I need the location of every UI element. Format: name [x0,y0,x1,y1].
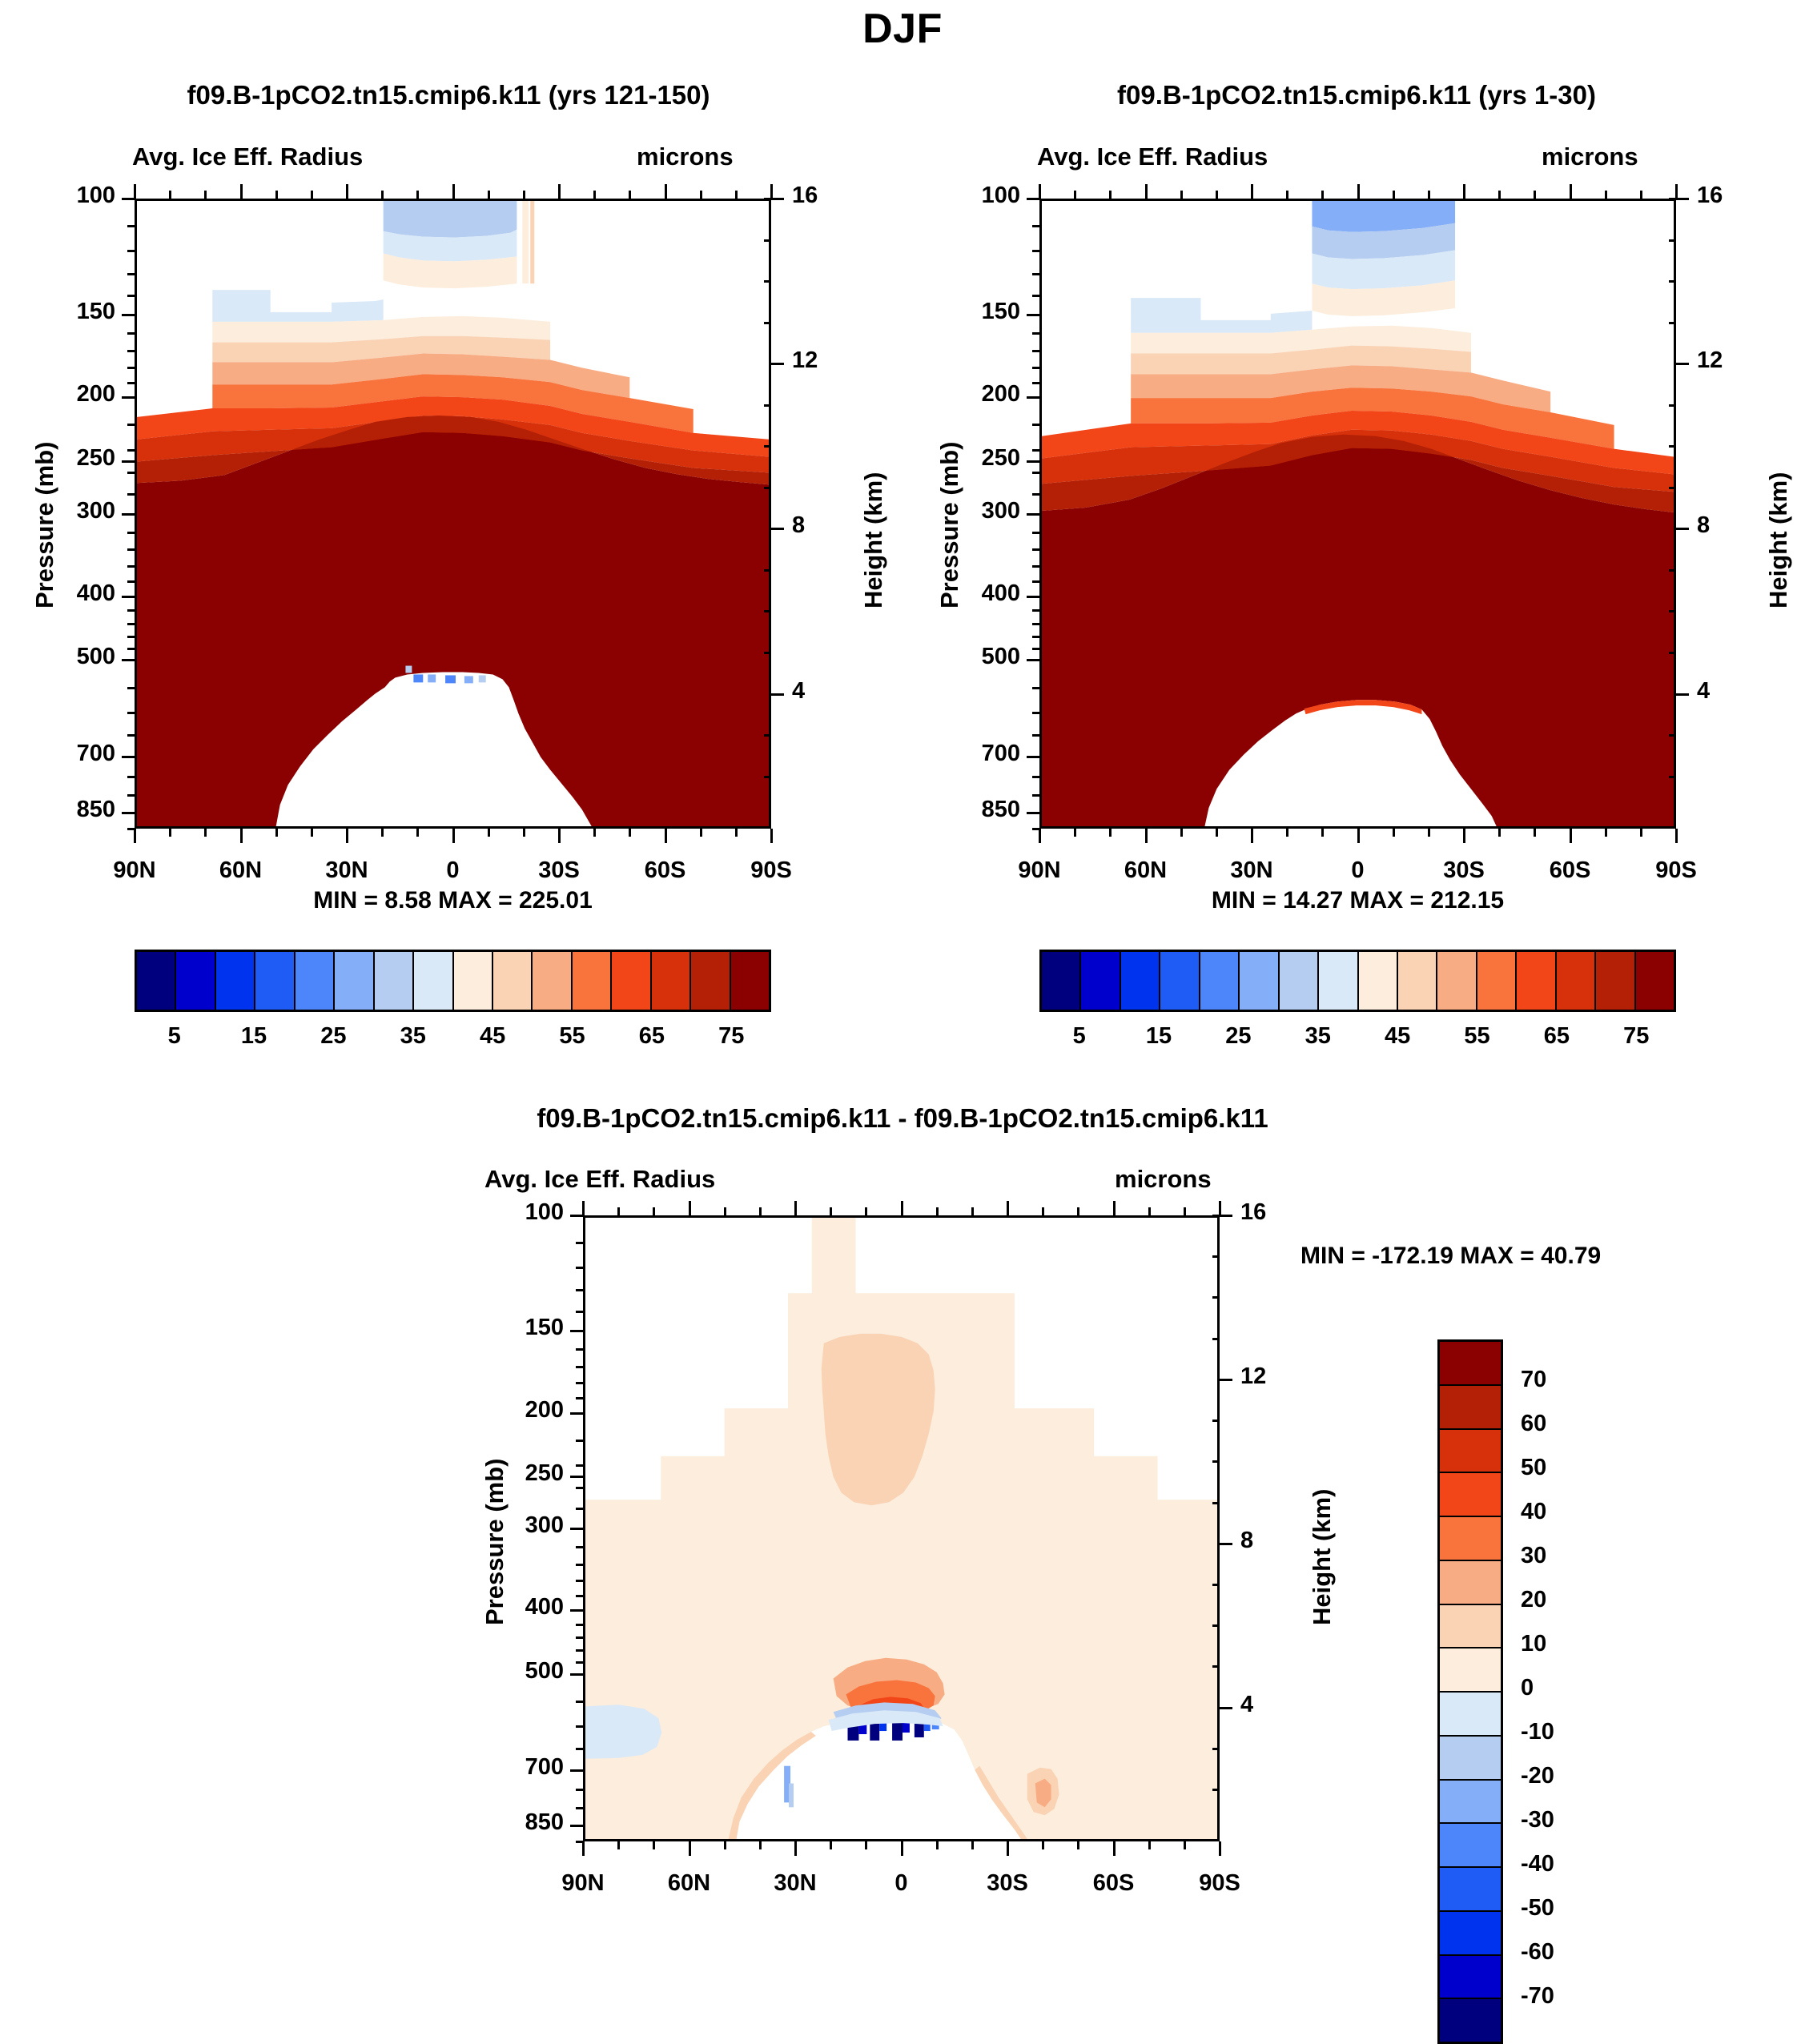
tick-mark-minor [576,1267,583,1269]
tick-mark [570,1412,583,1415]
y-tick-label: 500 [943,644,1020,670]
plot-area-right [1039,199,1676,829]
tick-mark-minor [700,191,702,199]
tick-mark [122,198,135,200]
y-tick-label: 100 [943,183,1020,209]
tick-mark-minor [275,829,278,837]
tick-mark-minor [1212,1624,1220,1627]
tick-mark-minor [1032,687,1039,689]
tick-mark [582,1841,585,1856]
tick-mark-minor [576,1289,583,1291]
tick-mark [558,184,561,199]
tick-mark-minor [127,367,135,369]
colorbar-cell[interactable] [1440,1430,1501,1474]
tick-mark [1027,756,1039,758]
tick-mark [1039,184,1041,199]
x-tick-label: 30N [291,857,403,884]
tick-mark-minor [1212,1255,1220,1258]
tick-mark-minor [1286,191,1288,199]
tick-mark-minor [1212,1420,1220,1422]
tick-mark-minor [617,1207,620,1215]
tick-mark-minor [1032,532,1039,534]
y-tick-label: 100 [38,183,115,209]
tick-mark-minor [416,191,419,199]
tick-mark-minor [724,1207,726,1215]
y-tick-label: 400 [943,580,1020,607]
tick-mark-minor [1393,829,1395,837]
tick-mark [1027,513,1039,516]
x-tick-label: 30S [951,1870,1063,1897]
tick-mark [122,396,135,399]
colorbar-cell[interactable] [137,952,176,1010]
tick-mark-minor [127,609,135,612]
y-tick-label: 300 [38,498,115,524]
tick-mark-minor [1669,404,1676,407]
tick-mark [134,829,136,843]
y2-tick-label: 16 [792,183,848,209]
tick-mark [570,1609,583,1612]
tick-mark-minor [576,1595,583,1597]
colorbar-tick-label: 20 [1521,1587,1625,1613]
tick-mark [346,829,348,843]
colorbar-tick-label: -20 [1521,1763,1625,1789]
colorbar-cell[interactable] [1121,952,1160,1010]
tick-mark [240,184,243,199]
tick-mark-minor [1212,1502,1220,1504]
minmax-diff: MIN = -172.19 MAX = 40.79 [1300,1243,1601,1270]
tick-mark [1570,829,1572,843]
tick-mark-minor [1640,829,1642,837]
tick-mark-minor [764,322,771,324]
tick-mark-minor [381,829,384,837]
colorbar-cell[interactable] [1240,952,1279,1010]
x-tick-label: 30N [739,1870,851,1897]
tick-mark [794,1841,797,1856]
tick-mark [346,184,348,199]
tick-mark [1027,812,1039,814]
colorbar-cell[interactable] [1596,952,1635,1010]
colorbar-cell[interactable] [255,952,295,1010]
x-tick-label: 0 [846,1870,958,1897]
tick-mark [1463,829,1465,843]
tick-mark [1145,829,1148,843]
colorbar-tick-label: 75 [683,1023,779,1050]
tick-mark-minor [1640,191,1642,199]
colorbar-tick-label: 0 [1521,1675,1625,1701]
tick-mark-minor [1428,829,1430,837]
x-tick-label: 90S [715,857,827,884]
colorbar-cell[interactable] [533,952,572,1010]
tick-mark-minor [127,712,135,714]
tick-mark-minor [936,1207,939,1215]
tick-mark-minor [204,191,207,199]
tick-mark-minor [1393,191,1395,199]
tick-mark-minor [576,1546,583,1548]
colorbar-cell[interactable] [691,952,730,1010]
tick-mark [689,1841,691,1856]
tick-mark [1357,829,1360,843]
tick-mark-minor [1321,191,1324,199]
colorbar-cell[interactable] [1440,1561,1501,1605]
colorbar-cell[interactable] [1280,952,1319,1010]
tick-mark-minor [1032,382,1039,384]
colorbar-cell[interactable] [1440,1693,1501,1737]
y-tick-label: 700 [38,741,115,767]
tick-mark [771,198,784,200]
tick-mark-minor [1534,191,1536,199]
tick-mark-minor [700,829,702,837]
tick-mark [1675,829,1678,843]
colorbar-cell[interactable] [1440,1868,1501,1912]
tick-mark-minor [1148,1207,1151,1215]
panel-units-diff: microns [1115,1165,1212,1194]
y2-tick-label: 8 [792,512,848,539]
tick-mark-minor [759,1841,762,1849]
tick-mark [570,1476,583,1478]
colorbar-cell[interactable] [375,952,414,1010]
colorbar-right[interactable] [1039,950,1676,1012]
tick-mark [582,1201,585,1215]
colorbar-cell[interactable] [1440,1605,1501,1649]
colorbar-cell[interactable] [1200,952,1240,1010]
tick-mark [1007,1841,1009,1856]
tick-mark-minor [764,776,771,778]
tick-mark-minor [488,191,490,199]
tick-mark-minor [830,1841,832,1849]
tick-mark-minor [576,1508,583,1510]
y-tick-label: 250 [38,445,115,472]
tick-mark [122,596,135,598]
tick-mark-minor [127,472,135,474]
tick-mark [134,184,136,199]
tick-mark-minor [1669,322,1676,324]
tick-mark [122,314,135,316]
x-tick-label: 30S [503,857,615,884]
tick-mark-minor [1032,472,1039,474]
tick-mark-minor [127,580,135,583]
x-tick-label: 60N [1090,857,1202,884]
tick-mark [771,528,784,530]
tick-mark [240,829,243,843]
tick-mark [122,812,135,814]
y2-tick-label: 16 [1697,183,1753,209]
tick-mark [771,693,784,696]
tick-mark-minor [576,1366,583,1368]
colorbar-cell[interactable] [335,952,374,1010]
tick-mark-minor [1032,332,1039,335]
tick-mark [1027,396,1039,399]
panel-title-left: f09.B-1pCO2.tn15.cmip6.k11 (yrs 121-150) [0,80,897,110]
x-tick-label: 90S [1620,857,1732,884]
colorbar-cell[interactable] [1440,1648,1501,1693]
y2-tick-label: 4 [1697,678,1753,705]
colorbar-cell[interactable] [1437,952,1477,1010]
tick-mark [689,1201,691,1215]
colorbar-cell[interactable] [493,952,533,1010]
colorbar-cell[interactable] [1359,952,1398,1010]
y2-axis-title-left: Height (km) [859,472,888,609]
tick-mark-minor [1042,1207,1044,1215]
tick-mark-minor [1032,734,1039,737]
tick-mark-minor [1428,191,1430,199]
tick-mark-minor [764,487,771,489]
x-tick-label: 60S [609,857,722,884]
colorbar-cell[interactable] [1160,952,1200,1010]
colorbar-tick-label: -30 [1521,1807,1625,1833]
y-tick-label: 850 [943,797,1020,823]
tick-mark-minor [1321,829,1324,837]
tick-mark [452,829,455,843]
colorbar-cell[interactable] [573,952,612,1010]
tick-mark-minor [1286,829,1288,837]
tick-mark-minor [1669,280,1676,283]
colorbar-cell[interactable] [1440,1342,1501,1386]
colorbar-cell[interactable] [454,952,493,1010]
tick-mark [1219,1201,1221,1215]
tick-mark-minor [127,532,135,534]
tick-mark-minor [1032,776,1039,778]
tick-mark-minor [127,794,135,797]
x-tick-label: 90N [78,857,191,884]
tick-mark [1007,1201,1009,1215]
colorbar-cell[interactable] [414,952,453,1010]
panel-field-label-left: Avg. Ice Eff. Radius [132,143,363,171]
y-tick-label: 200 [943,381,1020,408]
tick-mark-minor [865,1841,867,1849]
tick-mark-minor [523,191,525,199]
tick-mark-minor [1212,1296,1220,1299]
x-tick-label: 30N [1196,857,1308,884]
panel-field-label-right: Avg. Ice Eff. Radius [1037,143,1268,171]
colorbar-cell[interactable] [652,952,691,1010]
colorbar-cell[interactable] [1042,952,1081,1010]
tick-mark-minor [311,829,313,837]
tick-mark-minor [759,1207,762,1215]
tick-mark [1357,184,1360,199]
tick-mark [570,1673,583,1676]
tick-mark [794,1201,797,1215]
tick-mark-minor [1032,580,1039,583]
y-tick-label: 150 [487,1315,564,1341]
tick-mark [1145,184,1148,199]
tick-mark-minor [735,191,738,199]
tick-mark [901,1201,903,1215]
tick-mark-minor [416,829,419,837]
tick-mark-minor [1669,652,1676,654]
colorbar-cell[interactable] [1440,1517,1501,1561]
minmax-left: MIN = 8.58 MAX = 225.01 [135,887,771,914]
tick-mark-minor [593,829,596,837]
y-tick-label: 700 [943,741,1020,767]
colorbar-cell[interactable] [1477,952,1517,1010]
tick-mark [1675,184,1678,199]
colorbar-diff[interactable] [1437,1339,1503,2044]
tick-mark-minor [1042,1841,1044,1849]
tick-mark-minor [971,1841,974,1849]
tick-mark-minor [127,776,135,778]
colorbar-cell[interactable] [731,952,769,1010]
colorbar-tick-label: -60 [1521,1939,1625,1966]
tick-mark-minor [1669,487,1676,489]
tick-mark-minor [576,1242,583,1244]
x-tick-label: 90N [983,857,1095,884]
tick-mark-minor [127,734,135,737]
tick-mark-minor [1669,776,1676,778]
tick-mark [1220,1379,1232,1381]
tick-mark-minor [576,1748,583,1750]
y-tick-label: 250 [943,445,1020,472]
panel-title-diff: f09.B-1pCO2.tn15.cmip6.k11 - f09.B-1pCO2… [0,1103,1805,1134]
y-tick-label: 500 [38,644,115,670]
tick-mark-minor [1032,609,1039,612]
tick-mark [1113,1201,1116,1215]
tick-mark-minor [127,449,135,452]
tick-mark-minor [576,1701,583,1703]
panel-field-label-diff: Avg. Ice Eff. Radius [484,1165,715,1194]
tick-mark-minor [127,548,135,551]
minmax-right: MIN = 14.27 MAX = 212.15 [1039,887,1676,914]
y-tick-label: 850 [38,797,115,823]
tick-mark-minor [127,623,135,625]
colorbar-cell[interactable] [1440,1824,1501,1868]
tick-mark-minor [1032,648,1039,650]
tick-mark-minor [127,295,135,297]
tick-mark-minor [127,273,135,275]
colorbar-cell[interactable] [1440,1386,1501,1430]
tick-mark-minor [735,829,738,837]
tick-mark-minor [1605,829,1607,837]
tick-mark-minor [1109,829,1112,837]
colorbar-cell[interactable] [1081,952,1120,1010]
tick-mark [1463,184,1465,199]
tick-mark-minor [127,424,135,426]
tick-mark [771,363,784,365]
tick-mark-minor [1180,191,1183,199]
tick-mark-minor [127,350,135,352]
tick-mark-minor [1184,1841,1186,1849]
tick-mark-minor [576,1311,583,1313]
tick-mark-minor [1032,548,1039,551]
tick-mark-minor [576,1725,583,1728]
tick-mark-minor [311,191,313,199]
tick-mark-minor [1032,623,1039,625]
colorbar-cell[interactable] [1440,1999,1501,2042]
tick-mark-minor [1032,794,1039,797]
tick-mark [1027,198,1039,200]
tick-mark-minor [169,191,171,199]
tick-mark-minor [1032,636,1039,638]
y2-tick-label: 8 [1697,512,1753,539]
y-tick-label: 150 [38,299,115,325]
colorbar-tick-label: 75 [1588,1023,1684,1050]
tick-mark-minor [1032,493,1039,496]
y-tick-label: 300 [487,1512,564,1539]
x-tick-label: 60S [1058,1870,1170,1897]
tick-mark [558,829,561,843]
contour-field-left [137,201,769,826]
plot-area-diff [583,1215,1220,1841]
tick-mark-minor [576,1580,583,1582]
tick-mark-minor [629,829,631,837]
tick-mark-minor [576,1348,583,1351]
tick-mark [1039,829,1041,843]
y-tick-label: 700 [487,1754,564,1781]
colorbar-cell[interactable] [1636,952,1674,1010]
tick-mark-minor [764,239,771,242]
tick-mark-minor [653,1841,655,1849]
tick-mark [570,1330,583,1332]
tick-mark-minor [1498,191,1501,199]
colorbar-cell[interactable] [1440,1912,1501,1956]
tick-mark-minor [1032,250,1039,252]
y2-tick-label: 12 [792,347,848,374]
tick-mark-minor [488,829,490,837]
colorbar-cell[interactable] [1398,952,1437,1010]
tick-mark [1113,1841,1116,1856]
colorbar-cell[interactable] [1557,952,1596,1010]
colorbar-cell[interactable] [1440,1956,1501,2000]
tick-mark [1570,184,1572,199]
tick-mark-minor [576,1807,583,1809]
colorbar-tick-label: -10 [1521,1719,1625,1745]
tick-mark [1220,1215,1232,1217]
tick-mark-minor [576,1564,583,1566]
tick-mark-minor [1669,445,1676,448]
tick-mark-minor [936,1841,939,1849]
tick-mark-minor [1216,191,1218,199]
colorbar-tick-label: -40 [1521,1851,1625,1877]
colorbar-cell[interactable] [1440,1473,1501,1517]
colorbar-cell[interactable] [1319,952,1358,1010]
tick-mark-minor [653,1207,655,1215]
tick-mark-minor [523,829,525,837]
tick-mark-minor [1212,1748,1220,1750]
panel-title-right: f09.B-1pCO2.tn15.cmip6.k11 (yrs 1-30) [908,80,1805,110]
colorbar-tick-label: 10 [1521,1631,1625,1657]
tick-mark-minor [764,734,771,737]
tick-mark-minor [576,1487,583,1489]
contour-field-diff [585,1218,1217,1839]
colorbar-cell[interactable] [612,952,651,1010]
tick-mark-minor [127,636,135,638]
tick-mark-minor [1212,1460,1220,1463]
tick-mark [122,756,135,758]
y2-tick-label: 12 [1697,347,1753,374]
colorbar-cell[interactable] [1517,952,1556,1010]
colorbar-cell[interactable] [295,952,335,1010]
x-tick-label: 90S [1164,1870,1276,1897]
tick-mark-minor [724,1841,726,1849]
tick-mark-minor [1534,829,1536,837]
tick-mark-minor [127,250,135,252]
tick-mark [1676,363,1689,365]
colorbar-tick-label: -50 [1521,1895,1625,1922]
tick-mark [665,829,667,843]
colorbar-cell[interactable] [1440,1781,1501,1825]
colorbar-cell[interactable] [1440,1737,1501,1781]
colorbar-cell[interactable] [216,952,255,1010]
colorbar-left[interactable] [135,950,771,1012]
tick-mark-minor [127,648,135,650]
x-tick-label: 60N [633,1870,746,1897]
y-tick-label: 150 [943,299,1020,325]
colorbar-cell[interactable] [176,952,215,1010]
y-tick-label: 400 [487,1594,564,1620]
tick-mark [770,184,773,199]
tick-mark [122,460,135,463]
tick-mark-minor [830,1207,832,1215]
tick-mark-minor [1077,1841,1079,1849]
